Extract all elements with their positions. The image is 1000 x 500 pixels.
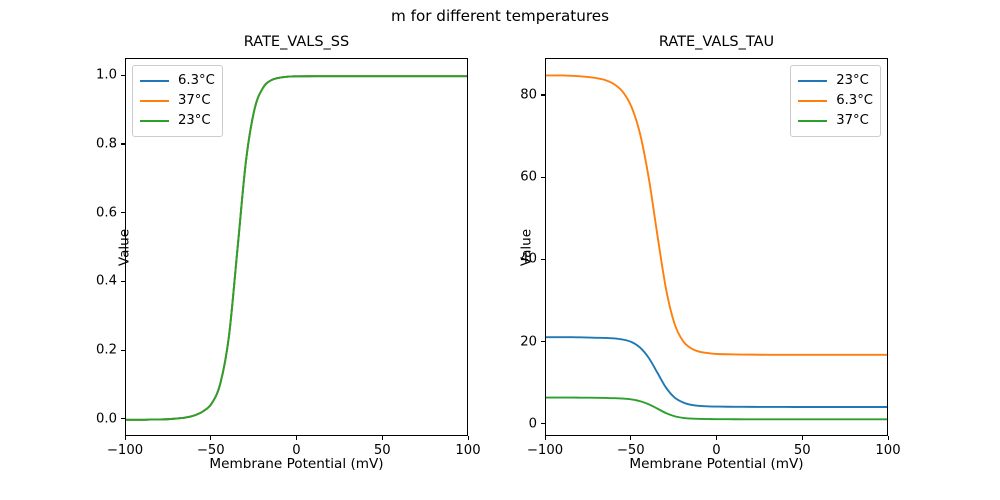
y-tickmark (541, 94, 545, 95)
y-tickmark (541, 341, 545, 342)
legend-entry-label: 37°C (836, 113, 869, 129)
legend-line-swatch-icon (798, 120, 827, 122)
matplotlib-figure: m for different temperatures RATE_VALS_S… (0, 0, 1000, 500)
y-tick-label: 0.2 (57, 343, 117, 358)
legend-entry[interactable]: 6.3°C (140, 71, 215, 91)
y-tick-label: 20 (477, 334, 537, 349)
legend-entry-label: 23°C (178, 113, 211, 129)
legend-line-swatch-icon (798, 100, 827, 102)
xlabel-tau: Membrane Potential (mV) (545, 456, 888, 473)
legend-entry-label: 37°C (178, 93, 211, 109)
legend-entry[interactable]: 23°C (140, 111, 215, 131)
y-tick-label: 0 (477, 416, 537, 431)
x-tickmark (296, 436, 297, 440)
xlabel-ss: Membrane Potential (mV) (125, 456, 468, 473)
y-tickmark (541, 259, 545, 260)
x-tickmark (888, 436, 889, 440)
ylabel-tau: Value (519, 168, 536, 328)
y-tickmark (121, 350, 125, 351)
legend-entry-label: 23°C (836, 73, 869, 89)
x-tickmark (802, 436, 803, 440)
legend-ss[interactable]: 6.3°C37°C23°C (132, 65, 223, 137)
axes-title-tau: RATE_VALS_TAU (545, 33, 888, 51)
y-tick-label: 1.0 (57, 68, 117, 83)
legend-line-swatch-icon (140, 120, 169, 122)
x-tickmark (468, 436, 469, 440)
y-tick-label: 0.0 (57, 411, 117, 426)
x-tickmark (382, 436, 383, 440)
y-tick-label: 0.4 (57, 274, 117, 289)
y-tickmark (121, 418, 125, 419)
legend-entry[interactable]: 23°C (798, 71, 873, 91)
legend-entry[interactable]: 37°C (140, 91, 215, 111)
x-tickmark (125, 436, 126, 440)
axes-rate-vals-ss: RATE_VALS_SS −100−500501000.00.20.40.60.… (125, 58, 468, 436)
y-tick-label: 0.6 (57, 205, 117, 220)
ylabel-ss: Value (117, 168, 134, 328)
legend-entry[interactable]: 6.3°C (798, 91, 873, 111)
series-line-23C (546, 337, 888, 407)
axes-title-ss: RATE_VALS_SS (125, 33, 468, 51)
legend-line-swatch-icon (140, 80, 169, 82)
legend-entry[interactable]: 37°C (798, 111, 873, 131)
legend-line-swatch-icon (140, 100, 169, 102)
y-tickmark (541, 423, 545, 424)
legend-entry-label: 6.3°C (178, 73, 215, 89)
series-line-37C (546, 398, 888, 420)
figure-suptitle: m for different temperatures (0, 6, 1000, 26)
legend-entry-label: 6.3°C (836, 93, 873, 109)
x-tickmark (716, 436, 717, 440)
y-tickmark (541, 177, 545, 178)
x-tickmark (210, 436, 211, 440)
y-tickmark (121, 75, 125, 76)
axes-rate-vals-tau: RATE_VALS_TAU −100−50050100020406080 Mem… (545, 58, 888, 436)
y-tick-label: 0.8 (57, 136, 117, 151)
y-tick-label: 80 (477, 87, 537, 102)
legend-line-swatch-icon (798, 80, 827, 82)
x-tickmark (630, 436, 631, 440)
y-tickmark (121, 143, 125, 144)
x-tickmark (545, 436, 546, 440)
legend-tau[interactable]: 23°C6.3°C37°C (790, 65, 881, 137)
